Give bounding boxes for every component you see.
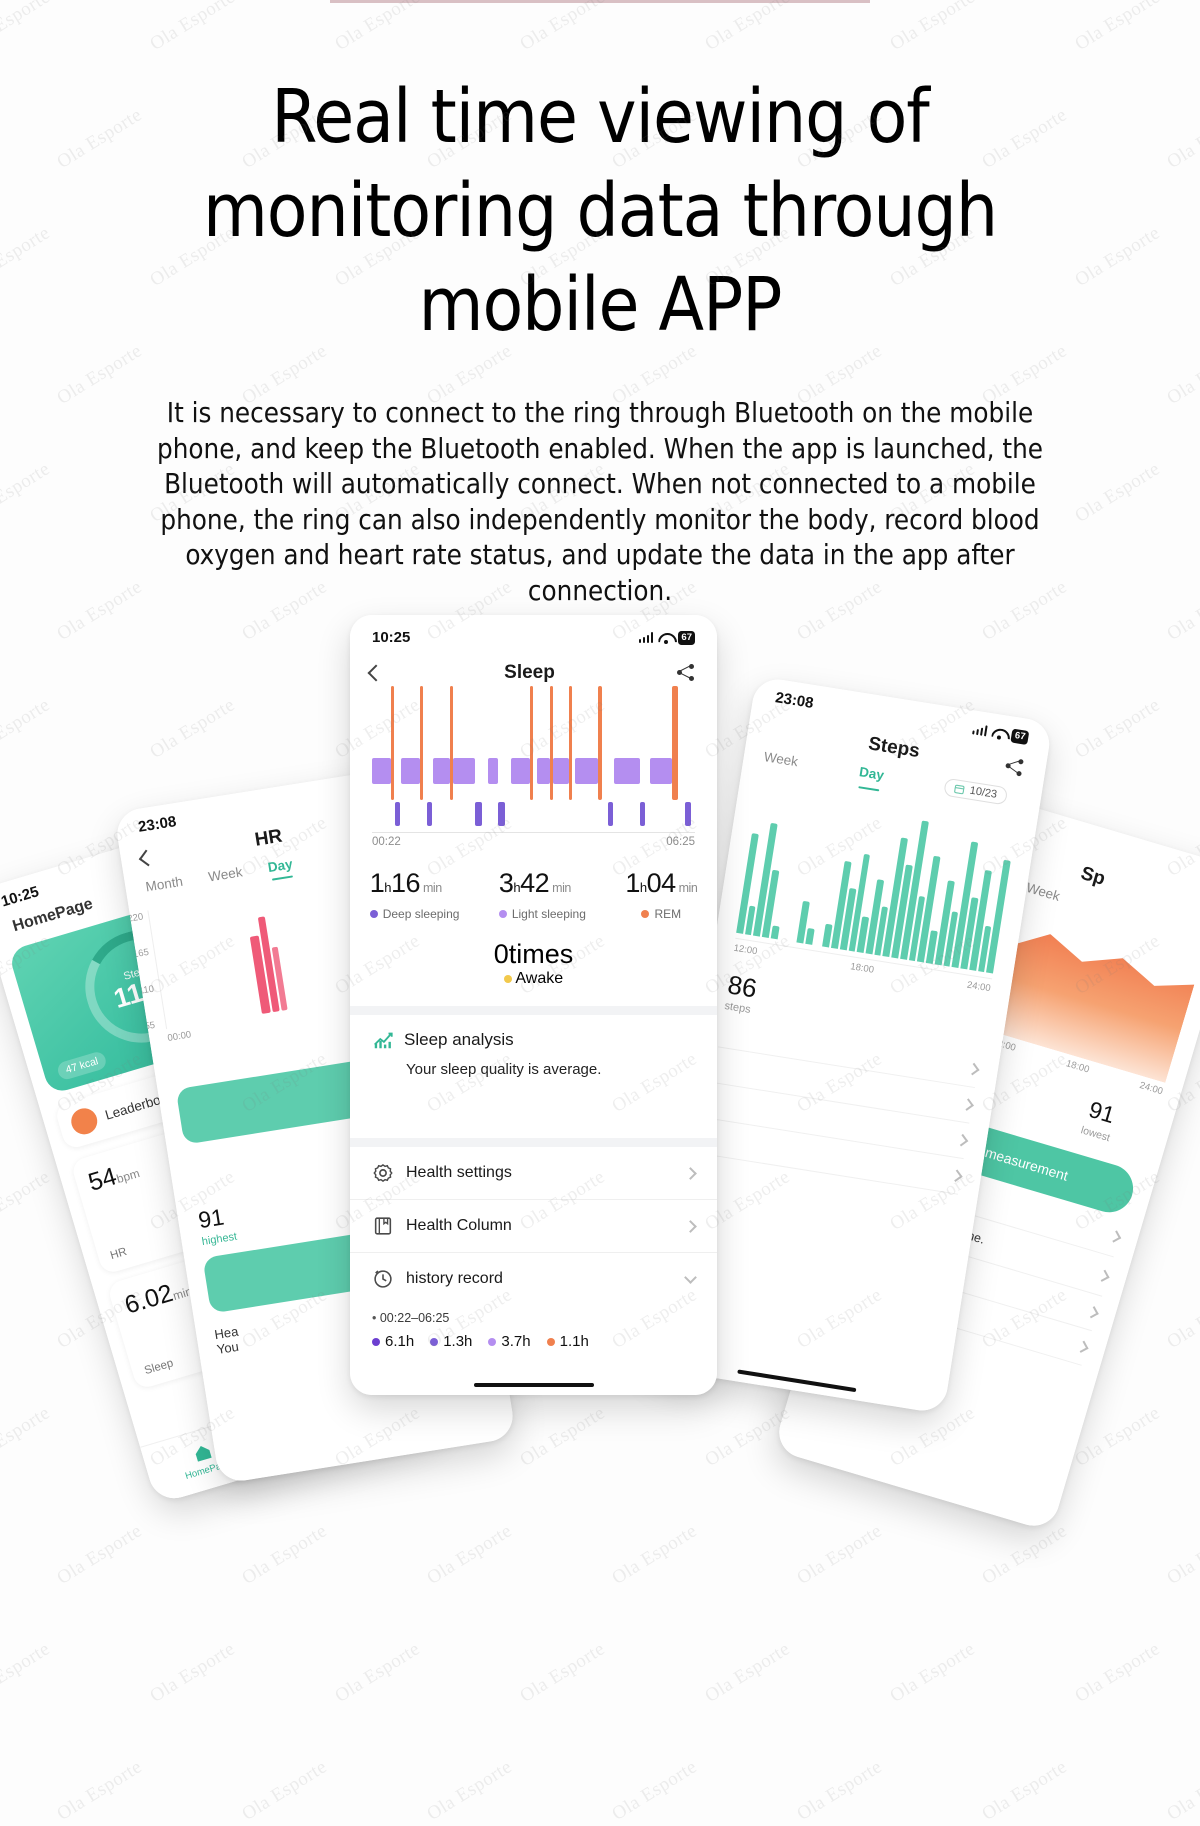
legend-dot-rem: [641, 910, 649, 918]
hypnogram-segment: [537, 758, 550, 784]
steps-title: Steps: [867, 733, 922, 763]
hypnogram-segment: [550, 686, 553, 800]
row-health-column[interactable]: Health Column: [350, 1200, 717, 1253]
chevron-right-icon: [684, 1167, 697, 1180]
hypnogram-segment: [391, 686, 394, 800]
wifi-icon: [658, 632, 673, 643]
share-icon[interactable]: [1004, 756, 1027, 779]
sleep-status-time: 10:25: [372, 629, 410, 646]
history-dot-rem: [547, 1338, 555, 1346]
hypnogram-segment: [372, 758, 391, 784]
hypnogram-segment: [427, 802, 432, 826]
steps-bar: [788, 941, 795, 942]
sleep-stats: 1h16min Deep sleeping 3h42min Light slee…: [350, 868, 717, 921]
signal-icon: [972, 723, 988, 736]
hypnogram-segment: [530, 686, 533, 800]
chevron-down-icon: [684, 1271, 697, 1284]
sleep-analysis[interactable]: Sleep analysis Your sleep quality is ave…: [350, 1015, 717, 1094]
hypnogram-segment: [650, 758, 673, 784]
history-dot-total: [372, 1338, 380, 1346]
history-value-rem: 1.1h: [547, 1333, 589, 1350]
awake-legend: Awake: [350, 970, 717, 988]
back-icon[interactable]: [139, 850, 156, 867]
sleep-analysis-subtitle: Your sleep quality is average.: [406, 1061, 695, 1078]
spo2-lowest: 91 lowest: [1079, 1095, 1119, 1144]
hypnogram-segment: [614, 758, 640, 784]
trophy-icon: [68, 1105, 100, 1137]
section-divider: [350, 1006, 717, 1015]
row-health-column-label: Health Column: [406, 1217, 674, 1235]
watermark-text: Ola Esporte: [146, 0, 239, 56]
watermark-text: Ola Esporte: [238, 1756, 331, 1825]
chevron-right-icon: [684, 1220, 697, 1233]
chart-trend-icon: [372, 1029, 394, 1051]
top-accent-line: [330, 0, 870, 3]
history-value-deep: 1.3h: [430, 1333, 472, 1350]
stat-rem-legend: REM: [625, 907, 697, 921]
wifi-icon: [991, 726, 1008, 739]
stat-deep-value: 1h16min: [370, 868, 460, 899]
hypnogram-segment: [475, 802, 482, 826]
awake-value: 0times: [350, 939, 717, 970]
watermark-text: Ola Esporte: [793, 1756, 886, 1825]
hr-tab-day[interactable]: Day: [267, 856, 294, 875]
watermark-text: Ola Esporte: [53, 1756, 146, 1825]
page-header: Real time viewing of monitoring data thr…: [0, 70, 1200, 609]
watermark-text: Ola Esporte: [331, 0, 424, 56]
sleep-analysis-title: Sleep analysis: [404, 1030, 514, 1050]
stat-deep-legend: Deep sleeping: [370, 907, 460, 921]
hypnogram-segment: [488, 758, 498, 784]
history-range: • 00:22–06:25: [350, 1305, 717, 1325]
battery-icon: 67: [1011, 728, 1030, 744]
sleep-awake-stat: 0times Awake: [350, 939, 717, 988]
spo2-lowest-value: 91: [1084, 1095, 1120, 1129]
history-dot-deep: [430, 1338, 438, 1346]
sleep-hypnogram: [372, 706, 695, 826]
clock-icon: [372, 1268, 394, 1290]
section-divider-2: [350, 1138, 717, 1147]
hr-tab-month[interactable]: Month: [145, 874, 184, 895]
hypnogram-segment: [420, 686, 423, 800]
hypnogram-segment: [640, 802, 645, 826]
signal-icon: [639, 632, 654, 643]
row-history-record[interactable]: history record: [350, 1253, 717, 1305]
watermark-text: Ola Esporte: [886, 0, 979, 56]
history-value-light: 3.7h: [488, 1333, 530, 1350]
watermark-text: Ola Esporte: [516, 0, 609, 56]
phone-sleep[interactable]: 10:25 67 Sleep 00:22 06:25: [350, 615, 717, 1395]
sleep-axis-end: 06:25: [666, 836, 695, 848]
watermark-text: Ola Esporte: [701, 0, 794, 56]
sleep-card-label: Sleep: [143, 1357, 175, 1377]
date-pill-label: 10/23: [969, 785, 998, 801]
spo2-title: Sp: [1078, 863, 1108, 891]
hypnogram-segment: [608, 802, 613, 826]
steps-total-value: 86: [726, 969, 759, 1003]
stat-deep: 1h16min Deep sleeping: [370, 868, 460, 921]
home-indicator: [474, 1383, 594, 1387]
spo2-x-tick-3: 18:00: [1065, 1058, 1091, 1075]
history-values: 6.1h 1.3h 3.7h 1.1h: [350, 1325, 717, 1350]
sleep-axis-start: 00:22: [372, 836, 401, 848]
hypnogram-segment: [569, 686, 572, 800]
hypnogram-segment: [498, 802, 505, 826]
history-dot-light: [488, 1338, 496, 1346]
steps-tab-week[interactable]: Week: [762, 749, 799, 772]
legend-dot-awake: [504, 975, 512, 983]
hypnogram-segment: [450, 686, 453, 800]
steps-x-tick-1: 12:00: [733, 943, 758, 958]
row-history-record-label: history record: [406, 1270, 674, 1288]
watermark-text: Ola Esporte: [1071, 0, 1164, 56]
battery-icon: 67: [678, 631, 695, 645]
back-icon[interactable]: [368, 665, 385, 682]
watermark-text: Ola Esporte: [0, 0, 54, 56]
stat-light: 3h42min Light sleeping: [499, 868, 586, 921]
title-line-1: Real time viewing of: [0, 70, 1200, 164]
steps-x-tick-3: 24:00: [966, 980, 991, 995]
intro-paragraph: It is necessary to connect to the ring t…: [135, 396, 1065, 609]
steps-bar: [805, 928, 814, 945]
watermark-text: Ola Esporte: [608, 1756, 701, 1825]
calendar-icon: [954, 783, 965, 794]
share-icon[interactable]: [677, 663, 697, 683]
home-indicator: [737, 1369, 856, 1392]
steps-bar: [771, 925, 780, 939]
hypnogram-segment: [575, 758, 598, 784]
watermark-text: Ola Esporte: [423, 1756, 516, 1825]
hypnogram-segment: [511, 758, 530, 784]
legend-dot-deep: [370, 910, 378, 918]
hr-x-tick-start: 00:00: [167, 1029, 192, 1044]
steps-tab-day[interactable]: Day: [858, 764, 885, 786]
sleep-status-icons: 67: [639, 631, 695, 645]
steps-x-tick-2: 18:00: [850, 961, 875, 976]
watermark-text: Ola Esporte: [978, 1756, 1071, 1825]
hr-card-label: HR: [109, 1246, 128, 1262]
phone-fan-stage: 10:25 HomePage Steps 1162 47 kcal 10000 …: [0, 600, 1200, 1700]
stat-rem-value: 1h04min: [625, 868, 697, 899]
page-title: Real time viewing of monitoring data thr…: [0, 70, 1200, 352]
hypnogram-segment: [598, 686, 602, 800]
sleep-analysis-header: Sleep analysis: [372, 1029, 695, 1051]
sleep-axis-labels: 00:22 06:25: [372, 836, 695, 848]
title-line-2: monitoring data through: [0, 164, 1200, 258]
hypnogram-segment: [395, 802, 400, 826]
stat-light-value: 3h42min: [499, 868, 586, 899]
sleep-title: Sleep: [504, 662, 555, 684]
sleep-statusbar: 10:25 67: [350, 615, 717, 648]
hypnogram-segment: [553, 758, 569, 784]
steps-bar: [779, 940, 786, 941]
hypnogram-segment: [453, 758, 476, 784]
history-value-total: 6.1h: [372, 1333, 414, 1350]
hypnogram-segment: [401, 758, 420, 784]
title-line-3: mobile APP: [0, 258, 1200, 352]
sleep-axis-line: [372, 832, 695, 833]
kcal-badge: 47 kcal: [56, 1050, 108, 1081]
spo2-x-tick-4: 24:00: [1138, 1080, 1164, 1097]
legend-dot-light: [499, 910, 507, 918]
row-health-settings[interactable]: Health settings: [350, 1147, 717, 1200]
gear-icon: [372, 1162, 394, 1184]
sleep-navbar: Sleep: [350, 648, 717, 692]
hr-title: HR: [253, 826, 284, 852]
hypnogram-segment: [672, 686, 677, 800]
steps-bar: [814, 945, 821, 946]
hypnogram-segment: [433, 758, 449, 784]
book-icon: [372, 1215, 394, 1237]
stat-rem: 1h04min REM: [625, 868, 697, 921]
row-health-settings-label: Health settings: [406, 1164, 674, 1182]
watermark-text: Ola Esporte: [1163, 1756, 1200, 1825]
hr-tab-week[interactable]: Week: [207, 864, 243, 884]
stat-light-legend: Light sleeping: [499, 907, 586, 921]
home-icon: [191, 1441, 215, 1465]
hypnogram-segment: [685, 802, 690, 826]
